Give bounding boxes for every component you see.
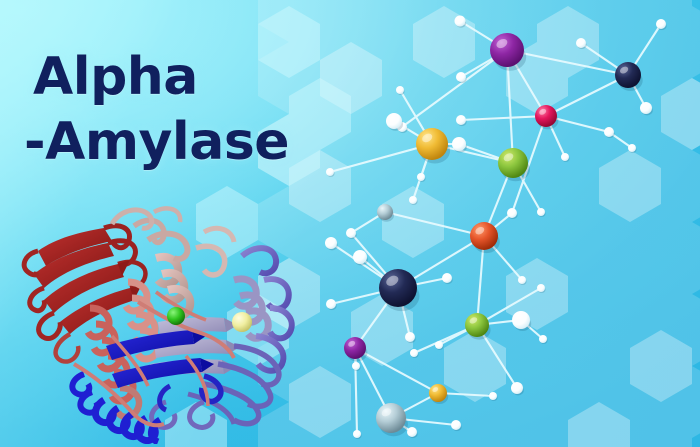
white-node-node (507, 208, 518, 219)
network-bonds (330, 21, 661, 434)
white-node-node (537, 208, 546, 217)
white-node-node (489, 392, 498, 401)
page-title: Alpha -Amylase (33, 52, 289, 168)
white-node-node (325, 237, 338, 250)
purple-atom-lower-node (344, 337, 367, 361)
white-node-node (353, 430, 362, 439)
white-node-node (409, 196, 418, 205)
white-node-node (456, 115, 467, 126)
network-bond (461, 116, 546, 120)
white-node-node (539, 335, 548, 344)
calcium-ion (167, 307, 185, 325)
title-line-2: -Amylase (24, 117, 289, 168)
alpha-amylase-banner: Alpha -Amylase (0, 0, 700, 447)
lime-atom-node (498, 148, 530, 181)
pink-atom-node (535, 105, 558, 129)
white-node-node (405, 332, 416, 343)
gold-atom-node (416, 128, 450, 164)
alpha-amylase-ribbon-diagram (8, 196, 298, 444)
lime-atom-lower-node (465, 313, 491, 340)
purple-atom-node (490, 33, 526, 71)
white-node-node (451, 420, 462, 431)
title-line-1: Alpha (33, 52, 289, 103)
white-node-node (353, 250, 368, 266)
white-node-node (512, 311, 531, 331)
white-node-node (604, 127, 615, 138)
white-node-node (576, 38, 587, 49)
gold-atom-lower-node (429, 384, 448, 404)
chloride-ion (232, 312, 252, 332)
white-node-node (537, 284, 546, 293)
navy-atom-node (615, 62, 643, 91)
network-bond (546, 75, 628, 116)
white-node-node (442, 273, 453, 284)
white-node-node (511, 382, 524, 395)
white-node-node (410, 349, 419, 358)
white-node-node (455, 16, 467, 28)
white-node-node (417, 173, 426, 182)
white-node-node (326, 168, 335, 177)
white-node-node (628, 144, 637, 153)
white-node-node (396, 86, 405, 95)
white-node-node (326, 299, 337, 310)
white-node-node (386, 113, 403, 131)
white-node-node (352, 362, 361, 371)
white-node-node (640, 102, 653, 115)
grey-atom-small-node (377, 204, 394, 222)
white-node-node (518, 276, 527, 285)
white-node-node (561, 153, 570, 162)
network-bond (402, 50, 507, 127)
white-node-node (407, 427, 418, 438)
grey-atom-node (376, 403, 408, 436)
network-bond (385, 212, 484, 236)
